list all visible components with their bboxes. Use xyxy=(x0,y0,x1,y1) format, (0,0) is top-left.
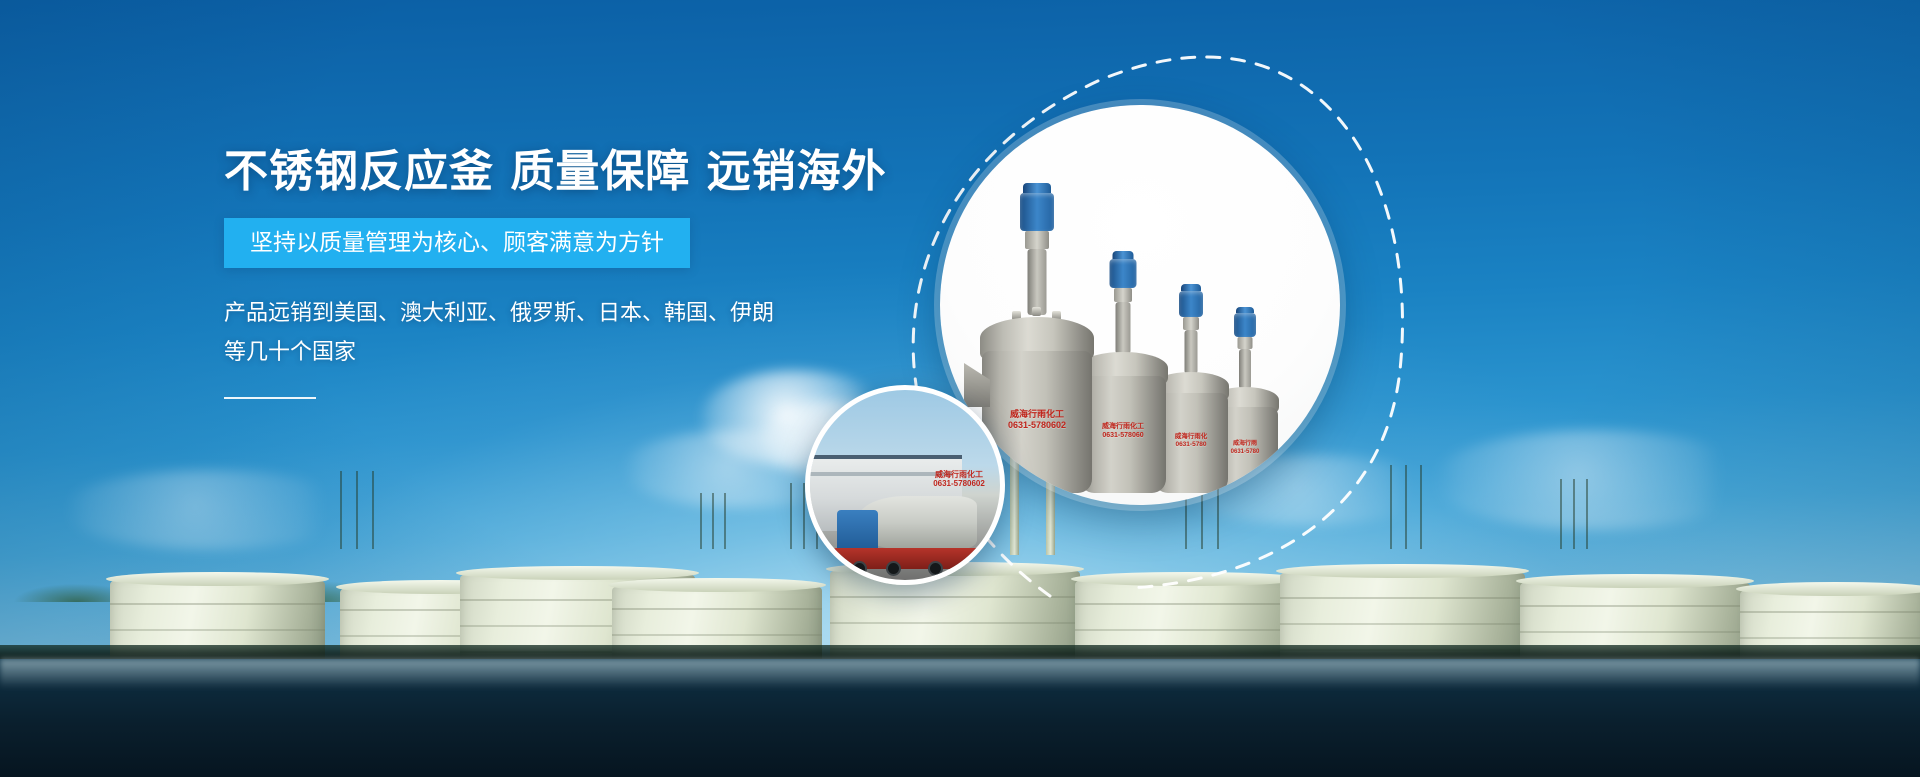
truck-wheel xyxy=(886,561,901,576)
tagline-badge: 坚持以质量管理为核心、顾客满意为方针 xyxy=(224,218,690,268)
water-reflection xyxy=(0,659,1920,689)
truck-wheel xyxy=(928,561,943,576)
vessel-label: 威海行雨化工 0631-578060 xyxy=(1085,423,1161,441)
water xyxy=(0,659,1920,777)
transmission-tower xyxy=(700,493,726,549)
hero-banner: 威海行雨 0631-5780 威海行雨化 0631-5780 xyxy=(0,0,1920,777)
description-line-2: 等几十个国家 xyxy=(224,333,784,372)
product-photo-circle: 威海行雨 0631-5780 威海行雨化 0631-5780 xyxy=(940,105,1340,505)
divider-rule xyxy=(224,397,316,399)
truck-cab xyxy=(837,510,879,552)
vessel-label: 威海行雨化工 0631-5780602 xyxy=(989,409,1086,432)
reactor-vessel: 威海行雨化工 0631-578060 xyxy=(1080,257,1166,493)
inset-vessel-label: 威海行雨化工 0631-5780602 xyxy=(933,470,985,489)
description-paragraph: 产品远销到美国、澳大利亚、俄罗斯、日本、韩国、伊朗 等几十个国家 xyxy=(224,294,784,371)
inset-photo-circle: 威海行雨化工 0631-5780602 xyxy=(805,385,1005,585)
transmission-tower xyxy=(340,471,374,549)
shoreline xyxy=(0,645,1920,659)
cloud xyxy=(1430,430,1760,530)
reactor-vessel: 威海行雨化工 0631-5780602 xyxy=(982,193,1092,493)
description-line-1: 产品远销到美国、澳大利亚、俄罗斯、日本、韩国、伊朗 xyxy=(224,294,784,333)
transmission-tower xyxy=(1390,465,1422,549)
truck-wheel xyxy=(852,561,867,576)
transmission-tower xyxy=(1560,479,1588,549)
banner-copy: 不锈钢反应釜 质量保障 远销海外 坚持以质量管理为核心、顾客满意为方针 产品远销… xyxy=(224,150,844,399)
vessel-label: 威海行雨化 0631-5780 xyxy=(1158,433,1223,449)
headline: 不锈钢反应釜 质量保障 远销海外 xyxy=(224,150,844,194)
